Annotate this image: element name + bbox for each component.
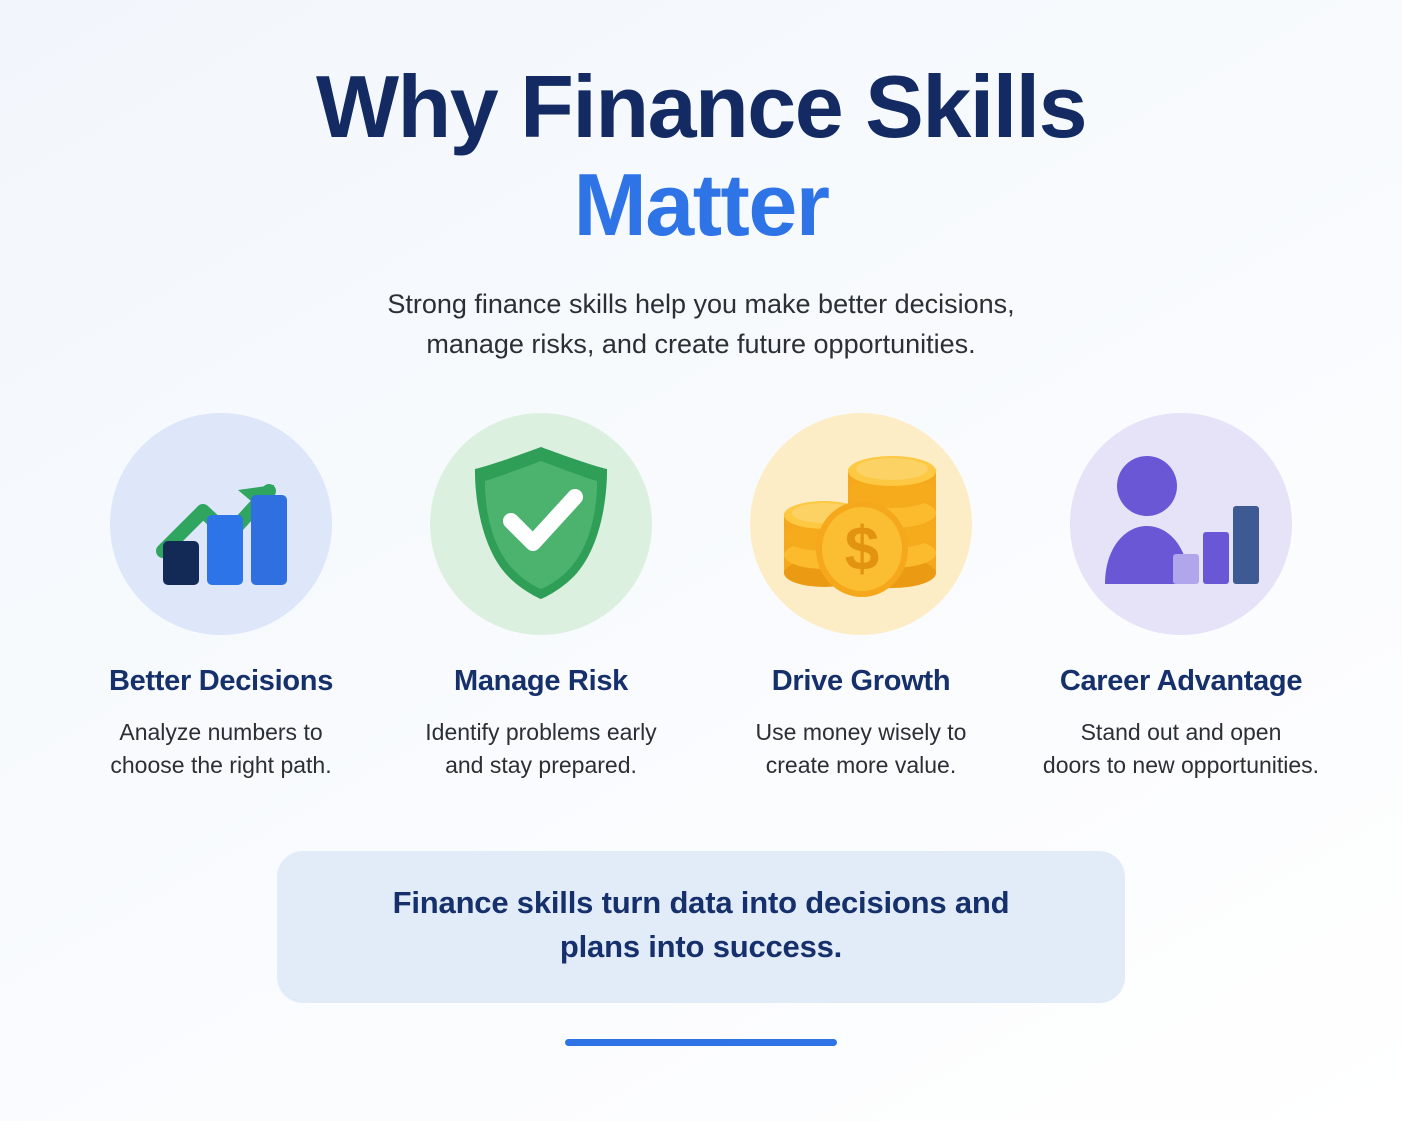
coin-stack-dollar-icon: $ [776, 441, 946, 606]
card-description-line-2: choose the right path. [71, 749, 371, 782]
card-description-line-2: create more value. [711, 749, 1011, 782]
card-title: Drive Growth [772, 665, 951, 698]
card-description: Stand out and open doors to new opportun… [1031, 716, 1331, 781]
infographic-page: Why Finance Skills Matter Strong finance… [0, 0, 1402, 1121]
shield-check-icon [461, 439, 621, 609]
feature-card-drive-growth: $ Drive Growth Use money wisely to creat… [701, 413, 1021, 781]
footer-accent-rule [565, 1039, 837, 1046]
page-title-primary: Why Finance Skills [0, 62, 1402, 152]
card-description-line-1: Stand out and open [1031, 716, 1331, 749]
card-title: Manage Risk [454, 665, 628, 698]
card-title: Career Advantage [1060, 665, 1302, 698]
subtitle-line-1: Strong finance skills help you make bett… [351, 285, 1051, 325]
card-description-line-1: Identify problems early [391, 716, 691, 749]
page-title-accent: Matter [0, 158, 1402, 251]
card-title: Better Decisions [109, 665, 333, 698]
summary-banner-line-1: Finance skills turn data into decisions … [317, 881, 1085, 925]
card-description: Identify problems early and stay prepare… [391, 716, 691, 781]
card-description-line-1: Analyze numbers to [71, 716, 371, 749]
feature-card-manage-risk: Manage Risk Identify problems early and … [381, 413, 701, 781]
icon-badge-manage-risk [430, 413, 652, 635]
page-title-block: Why Finance Skills Matter [0, 0, 1402, 251]
person-with-bars-icon [1099, 444, 1264, 604]
feature-card-career-advantage: Career Advantage Stand out and open door… [1021, 413, 1341, 781]
summary-banner-line-2: plans into success. [317, 925, 1085, 969]
icon-badge-drive-growth: $ [750, 413, 972, 635]
card-description-line-2: doors to new opportunities. [1031, 749, 1331, 782]
card-description-line-2: and stay prepared. [391, 749, 691, 782]
icon-badge-better-decisions [110, 413, 332, 635]
footer-rule-wrap [0, 1039, 1402, 1046]
card-description: Analyze numbers to choose the right path… [71, 716, 371, 781]
icon-badge-career-advantage [1070, 413, 1292, 635]
card-description: Use money wisely to create more value. [711, 716, 1011, 781]
svg-text:$: $ [845, 515, 879, 584]
feature-card-better-decisions: Better Decisions Analyze numbers to choo… [61, 413, 381, 781]
feature-card-row: Better Decisions Analyze numbers to choo… [0, 413, 1402, 781]
page-subtitle: Strong finance skills help you make bett… [351, 285, 1051, 365]
subtitle-line-2: manage risks, and create future opportun… [351, 325, 1051, 365]
growth-bar-chart-icon [141, 441, 301, 606]
summary-banner: Finance skills turn data into decisions … [277, 851, 1125, 1003]
summary-banner-text: Finance skills turn data into decisions … [317, 881, 1085, 969]
card-description-line-1: Use money wisely to [711, 716, 1011, 749]
